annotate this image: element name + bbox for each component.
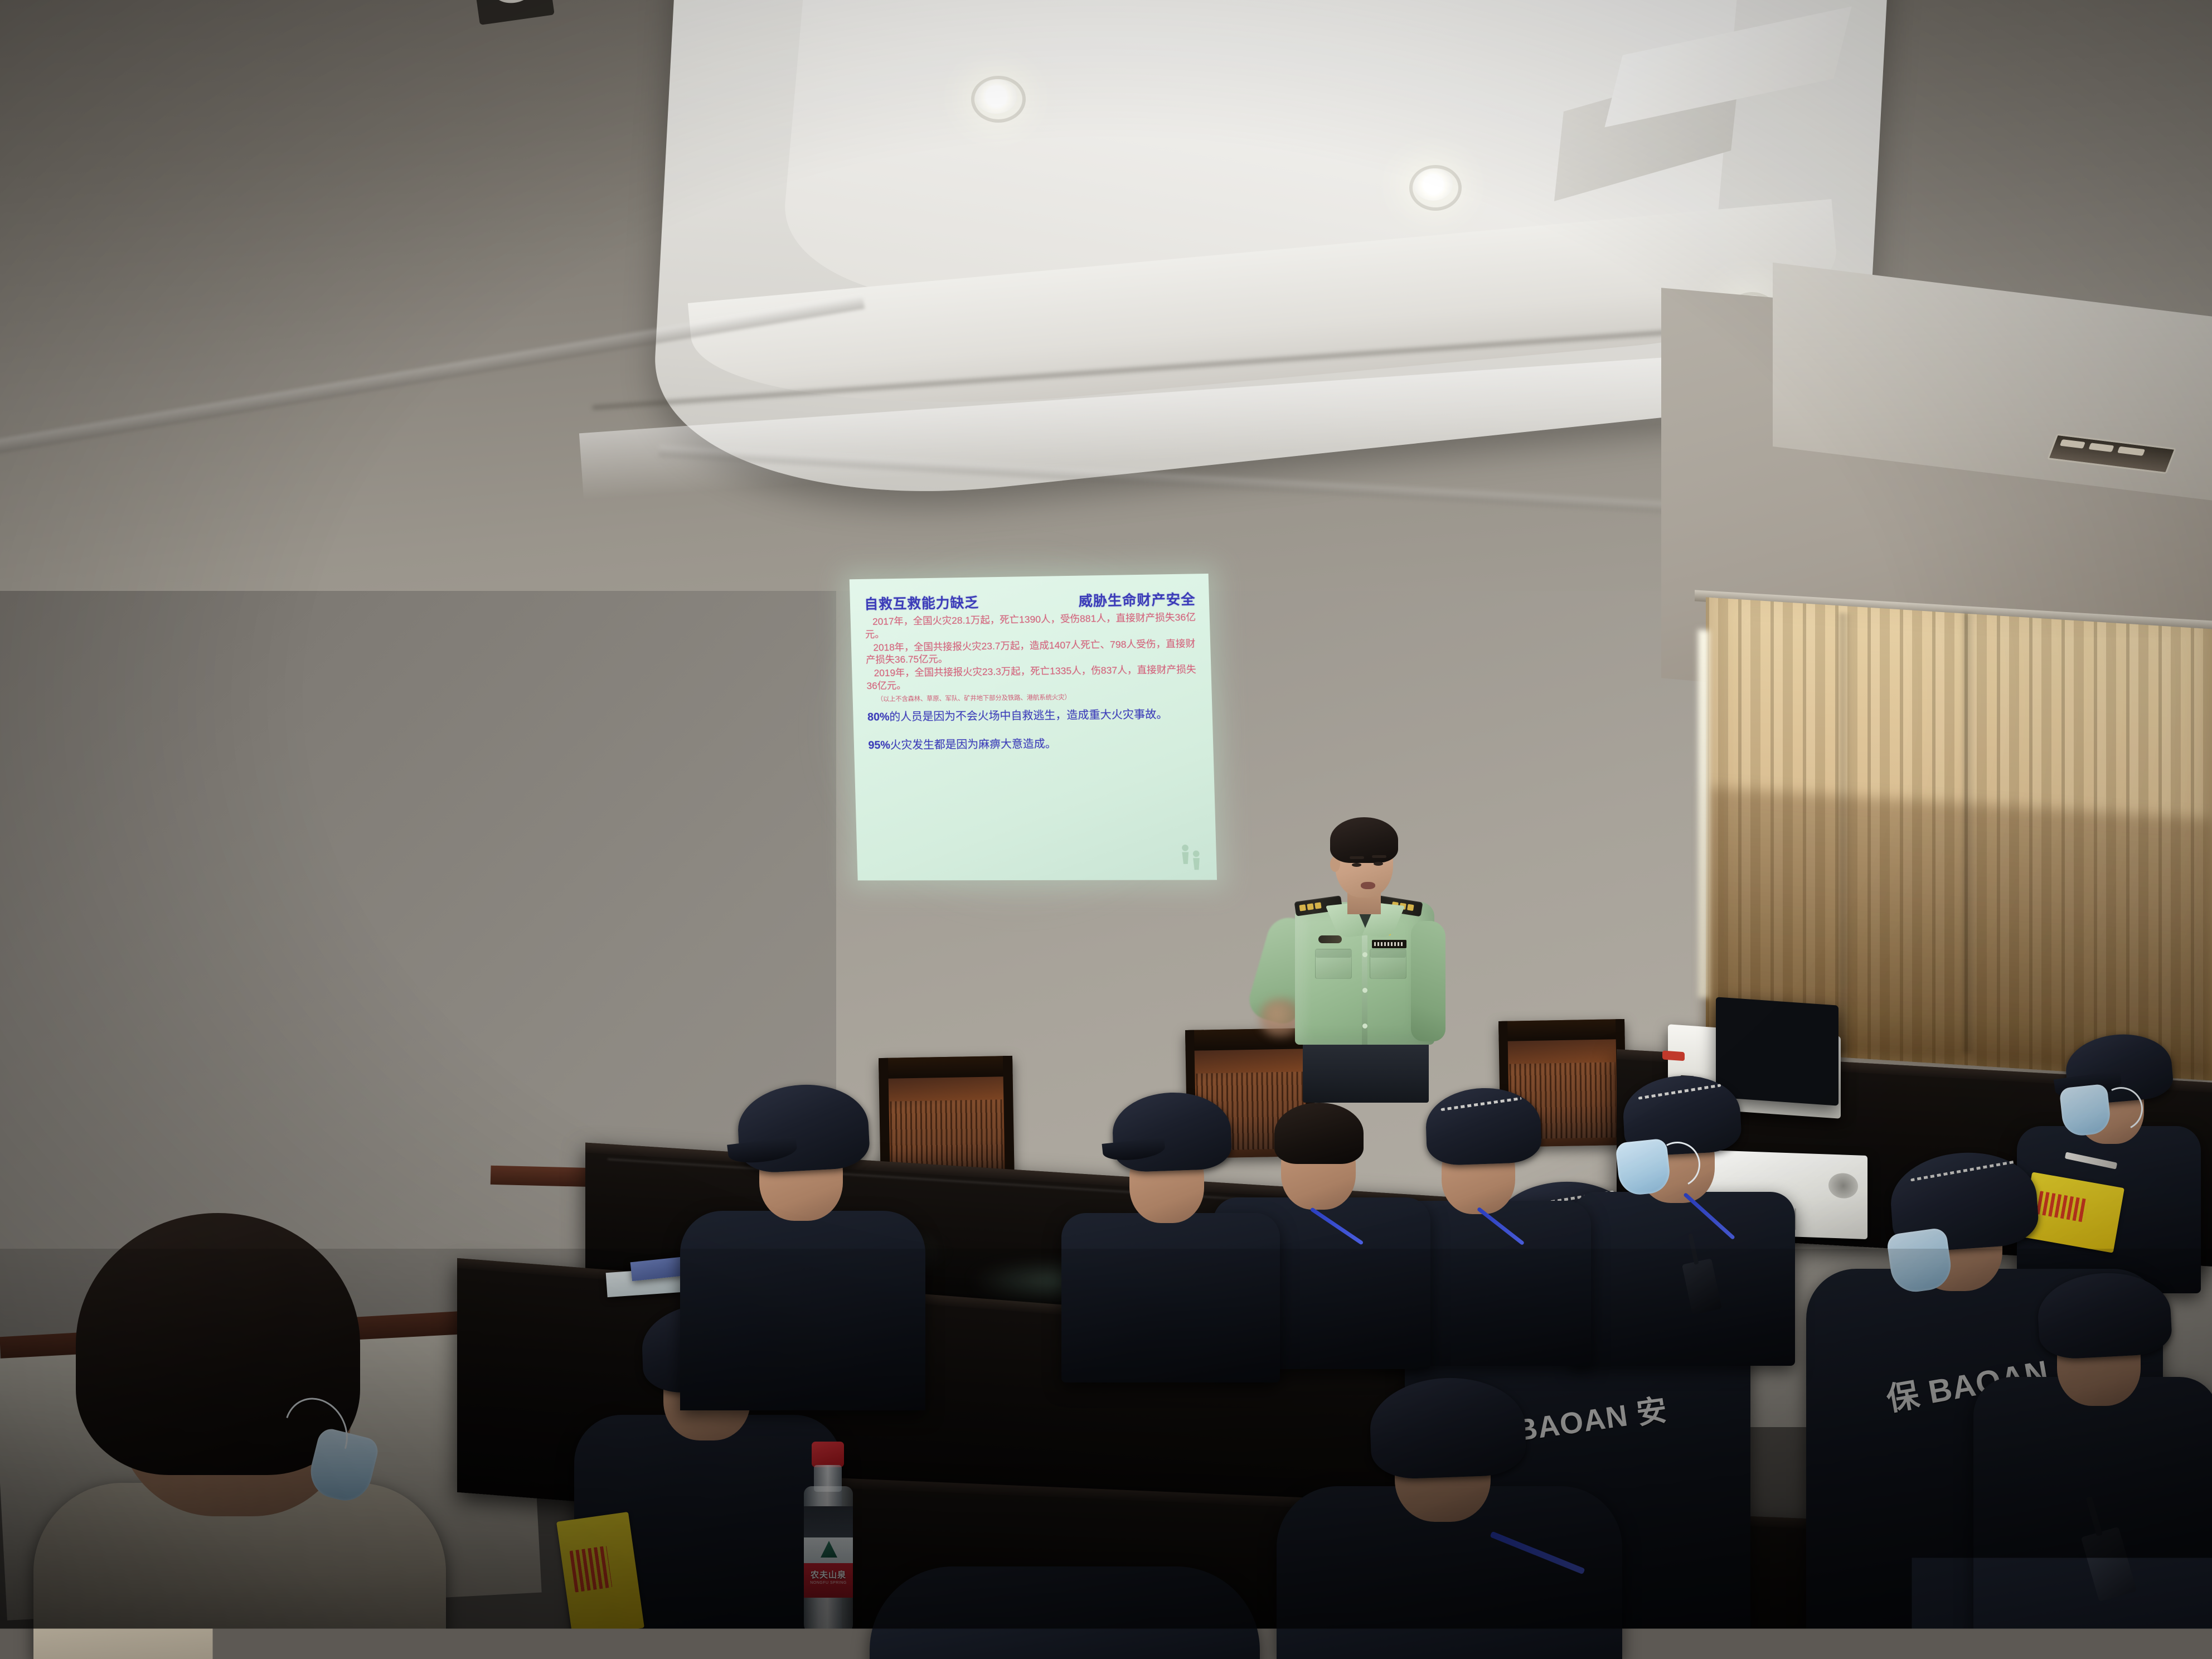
slide-exclusion-note: （以上不含森林、草原、军队、矿井地下部分及铁路、港航系统火灾） <box>877 692 1199 704</box>
epaulette-chevron <box>1299 904 1306 911</box>
slide-title-right: 威胁生命财产安全 <box>1073 589 1196 610</box>
attendee-foreground-center <box>1277 1382 1622 1659</box>
presenter-right-arm <box>1411 921 1445 1041</box>
bottle-brand-en: NONGFU SPRING <box>804 1581 853 1585</box>
fixture-bulb <box>490 0 536 6</box>
armband-text-mark <box>569 1546 612 1593</box>
epaulette-chevron <box>1407 904 1414 911</box>
attendee-jacket <box>1572 1192 1795 1366</box>
attendee-bottom-edge <box>870 1566 1260 1659</box>
water-bottle[interactable]: 农夫山泉 NONGFU SPRING <box>798 1442 858 1638</box>
slide-corner-logo-icon <box>1177 843 1204 872</box>
slide-title: 自救互救能力缺乏 威胁生命财产安全 <box>864 589 1196 614</box>
slide-title-left: 自救互救能力缺乏 <box>864 591 979 613</box>
bottle-label-dark-band <box>804 1506 853 1537</box>
slide-stat-2017: 2017年，全国火灾28.1万起，死亡1390人，受伤881人，直接财产损失36… <box>865 611 1196 641</box>
attendee-cap <box>1112 1090 1233 1172</box>
attendee-foreground-beige <box>33 1193 446 1659</box>
slide-highlight-95-pct: 95% <box>868 739 890 751</box>
presenter-brow-left <box>1350 856 1364 859</box>
attendee-cap <box>1425 1086 1542 1166</box>
curtain-fold-main <box>1963 613 1976 1054</box>
bottle-cap <box>812 1442 844 1467</box>
presenter-pocket-flap <box>1316 949 1351 958</box>
attendee-jacket <box>680 1211 925 1410</box>
presenter <box>1251 803 1441 1093</box>
attendee-cap <box>1369 1375 1527 1480</box>
slide-stat-2019: 2019年，全国共接报火灾23.3万起，死亡1335人，伤837人，直接财产损失… <box>866 663 1198 692</box>
bottle-brand-cn: 农夫山泉 <box>804 1569 853 1580</box>
window-light-strip <box>1698 629 1709 998</box>
presenter-hair <box>1330 817 1398 863</box>
presenter-eye-right <box>1374 862 1383 866</box>
presenter-pocket-left <box>1315 949 1352 979</box>
slide-highlight-80: 80%的人员是因为不会火场中自救逃生，造成重大火灾事故。 <box>867 707 1199 725</box>
attendee-mid-right <box>1566 1054 1801 1366</box>
curtain-fold-second <box>1840 613 1852 1054</box>
attendee-hair <box>1274 1103 1364 1164</box>
presenter-button-3 <box>1362 1023 1367 1029</box>
conference-room-photo: 自救互救能力缺乏 威胁生命财产安全 2017年，全国火灾28.1万起，死亡139… <box>0 0 2212 1659</box>
attendee-jacket <box>1061 1213 1280 1382</box>
presenter-button-1 <box>1362 952 1367 957</box>
presenter-pocket-flap <box>1370 949 1406 958</box>
attendee-front-left <box>680 1065 925 1410</box>
presenter-mouth <box>1361 882 1375 889</box>
projected-slide: 自救互救能力缺乏 威胁生命财产安全 2017年，全国火灾28.1万起，死亡139… <box>850 574 1217 880</box>
downlight-2 <box>1414 168 1453 201</box>
presenter-brow-right <box>1372 855 1386 858</box>
downlight-1 <box>976 79 1017 114</box>
chair-top-rail <box>1498 1019 1625 1041</box>
slide-highlight-95: 95%火灾发生都是因为麻痹大意造成。 <box>868 736 1200 753</box>
attendee-mid-left <box>1059 1070 1282 1382</box>
presenter-button-2 <box>1362 988 1367 993</box>
presenter-name-badge <box>1372 940 1406 948</box>
epaulette-chevron <box>1314 902 1321 909</box>
attendee-foreground-right <box>1973 1265 2212 1659</box>
slide-highlight-80-text: 的人员是因为不会火场中自救逃生，造成重大火灾事故。 <box>889 709 1168 724</box>
presenter-wing-insignia-icon <box>1318 935 1342 943</box>
epaulette-chevron <box>1307 903 1313 910</box>
slide-highlight-95-text: 火灾发生都是因为麻痹大意造成。 <box>890 738 1057 751</box>
attendee-jacket <box>870 1566 1260 1659</box>
slide-stat-2018: 2018年，全国共接报火灾23.7万起，造成1407人死亡、798人受伤，直接财… <box>865 637 1197 667</box>
presenter-pocket-right <box>1370 949 1406 979</box>
slide-highlight-80-pct: 80% <box>867 711 890 724</box>
attendee-cap <box>2036 1270 2173 1360</box>
presenter-eye-left <box>1352 863 1361 867</box>
